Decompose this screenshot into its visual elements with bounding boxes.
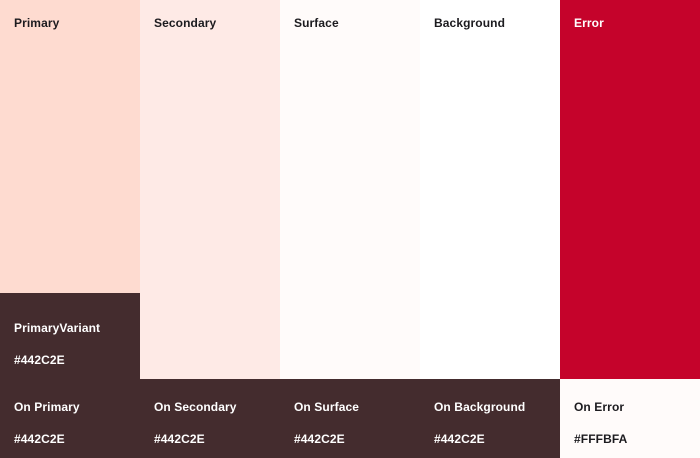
swatch-background-label: Background (434, 16, 505, 30)
swatch-on-primary-label: On Primary (14, 400, 80, 414)
swatch-on-background-label: On Background (434, 400, 525, 414)
swatch-on-primary[interactable]: On Primary #442C2E (0, 379, 140, 458)
swatch-on-surface-hex: #442C2E (294, 432, 345, 446)
swatch-secondary-label: Secondary (154, 16, 216, 30)
palette-column-background: Background #FFFFFF On Background #442C2E (420, 0, 560, 458)
swatch-primary-variant-hex: #442C2E (14, 353, 65, 367)
palette-column-secondary: Secondary #FEEAE6 On Secondary #442C2E (140, 0, 280, 458)
palette-column-primary: Primary #FEDBD0 PrimaryVariant #442C2E O… (0, 0, 140, 458)
swatch-on-background[interactable]: On Background #442C2E (420, 379, 560, 458)
swatch-on-surface[interactable]: On Surface #442C2E (280, 379, 420, 458)
swatch-error-label: Error (574, 16, 604, 30)
swatch-on-primary-hex: #442C2E (14, 432, 65, 446)
swatch-on-error-label: On Error (574, 400, 624, 414)
swatch-on-error-hex: #FFFBFA (574, 432, 627, 446)
swatch-on-error[interactable]: On Error #FFFBFA (560, 379, 700, 458)
swatch-primary-label: Primary (14, 16, 59, 30)
swatch-on-background-hex: #442C2E (434, 432, 485, 446)
swatch-on-surface-label: On Surface (294, 400, 359, 414)
swatch-on-secondary-hex: #442C2E (154, 432, 205, 446)
swatch-primary-variant-label: PrimaryVariant (14, 321, 100, 335)
palette-column-error: Error #C5032B On Error #FFFBFA (560, 0, 700, 458)
color-palette: Primary #FEDBD0 PrimaryVariant #442C2E O… (0, 0, 700, 458)
swatch-on-secondary-label: On Secondary (154, 400, 237, 414)
swatch-on-secondary[interactable]: On Secondary #442C2E (140, 379, 280, 458)
swatch-surface-label: Surface (294, 16, 339, 30)
palette-column-surface: Surface #FFFBFA On Surface #442C2E (280, 0, 420, 458)
